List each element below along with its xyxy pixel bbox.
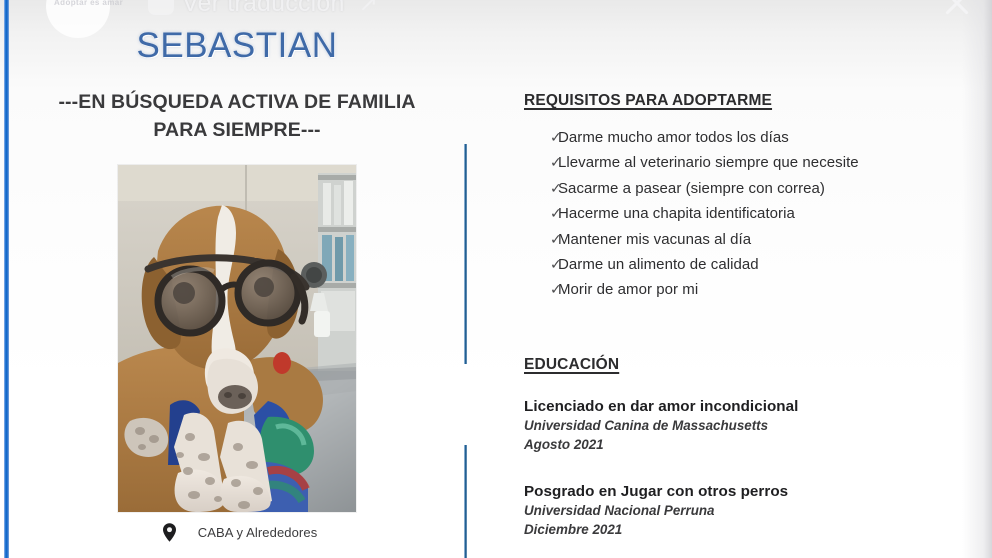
check-icon: ✓ [524,258,558,272]
tagline-line-1: ---EN BÚSQUEDA ACTIVA DE FAMILIA [14,89,460,117]
requirements-heading: REQUISITOS PARA ADOPTARME [524,92,954,110]
list-item-label: Sacarme a pasear (siempre con correa) [558,181,825,196]
check-icon: ✓ [524,233,558,247]
translate-button[interactable]: Ver traducción ↗ [148,0,378,18]
video-overlay-bar: Adoptar es amar Ver traducción ↗ [0,0,992,22]
education-degree: Licenciado en dar amor incondicional [524,397,954,416]
list-item: ✓ Darme un alimento de calidad [524,257,954,282]
list-item-label: Mantener mis vacunas al día [558,232,751,247]
right-column: REQUISITOS PARA ADOPTARME ✓ Darme mucho … [524,92,954,540]
external-link-arrow-icon: ↗ [359,0,378,17]
education-date: Agosto 2021 [524,436,954,455]
education-school: Universidad Canina de Massachusetts [524,417,954,436]
username-label: Adoptar es amar [54,0,123,7]
translate-label: Ver traducción [182,0,345,18]
list-item: ✓ Mantener mis vacunas al día [524,232,954,257]
list-item: ✓ Hacerme una chapita identificatoria [524,206,954,231]
list-item-label: Morir de amor por mi [558,282,698,297]
pet-photo [118,165,356,512]
check-icon: ✓ [524,283,558,297]
check-icon: ✓ [524,131,558,145]
page-title: SEBASTIAN [14,28,460,63]
list-item: ✓ Sacarme a pasear (siempre con correa) [524,181,954,206]
list-item-label: Darme mucho amor todos los días [558,130,789,145]
check-icon: ✓ [524,156,558,170]
education-entry: Posgrado en Jugar con otros perros Unive… [524,482,954,540]
list-item: ✓ Llevarme al veterinario siempre que ne… [524,155,954,180]
tagline: ---EN BÚSQUEDA ACTIVA DE FAMILIA PARA SI… [14,89,460,144]
education-heading: EDUCACIÓN [524,356,954,374]
translate-app-icon [148,0,174,15]
left-accent-bar [4,0,9,558]
education-date: Diciembre 2021 [524,521,954,540]
list-item: ✓ Darme mucho amor todos los días [524,130,954,155]
list-item: ✓ Morir de amor por mi [524,282,954,307]
location-pin-icon [163,523,176,542]
education-degree: Posgrado en Jugar con otros perros [524,482,954,501]
column-divider-top [464,144,467,364]
education-section: EDUCACIÓN Licenciado en dar amor incondi… [524,356,954,540]
list-item-label: Hacerme una chapita identificatoria [558,206,795,221]
flyer-screen: Adoptar es amar Ver traducción ↗ SEBASTI… [0,0,992,558]
left-column: SEBASTIAN ---EN BÚSQUEDA ACTIVA DE FAMIL… [14,20,460,542]
column-divider-bottom [464,445,467,558]
location-row: CABA y Alrededores [14,523,460,542]
list-item-label: Llevarme al veterinario siempre que nece… [558,155,859,170]
check-icon: ✓ [524,207,558,221]
list-item-label: Darme un alimento de calidad [558,257,759,272]
check-icon: ✓ [524,182,558,196]
education-entry: Licenciado en dar amor incondicional Uni… [524,397,954,455]
education-school: Universidad Nacional Perruna [524,502,954,521]
tagline-line-2: PARA SIEMPRE--- [14,117,460,145]
location-label: CABA y Alrededores [198,525,318,540]
requirements-list: ✓ Darme mucho amor todos los días ✓ Llev… [524,130,954,308]
right-edge-shade [962,0,992,558]
